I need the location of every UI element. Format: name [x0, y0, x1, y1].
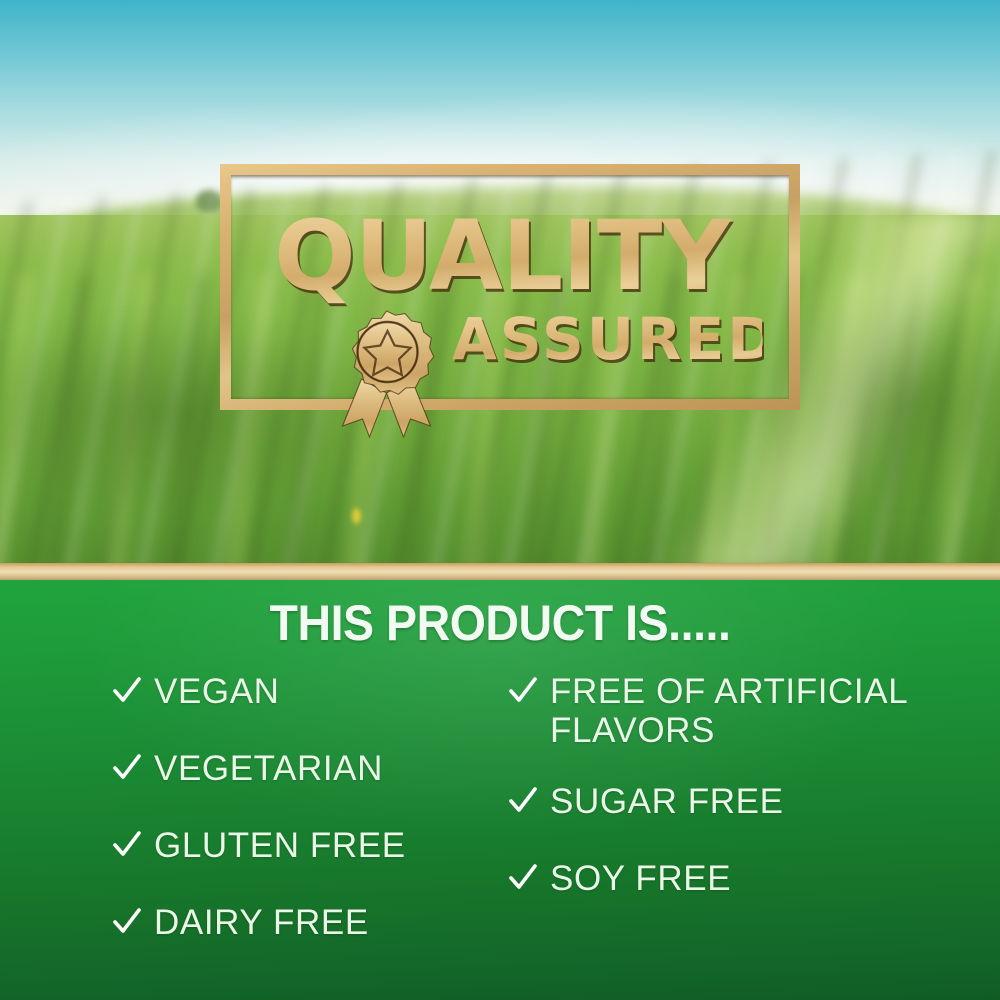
check-mark-icon: [112, 828, 142, 862]
claims-column-left: VEGAN VEGETARIAN GLUTEN FREE DAIRY FREE: [112, 672, 512, 942]
award-rosette-star-icon: [327, 305, 447, 440]
claim-label: VEGETARIAN: [154, 749, 383, 788]
claim-label: SOY FREE: [550, 859, 731, 898]
check-mark-icon: [112, 674, 142, 708]
check-mark-icon: [508, 674, 538, 708]
check-mark-icon: [508, 861, 538, 895]
check-mark-icon: [112, 751, 142, 785]
claim-item-sugar-free: SUGAR FREE: [508, 782, 938, 821]
claim-label: GLUTEN FREE: [154, 826, 406, 865]
claim-item-dairy-free: DAIRY FREE: [112, 903, 512, 942]
claim-item-soy-free: SOY FREE: [508, 859, 938, 898]
claim-item-vegetarian: VEGETARIAN: [112, 749, 512, 788]
claim-label: DAIRY FREE: [154, 903, 369, 942]
claims-column-right: FREE OF ARTIFICIAL FLAVORS SUGAR FREE SO…: [508, 672, 938, 898]
product-claims-banner: QUALITY ASSURED: [0, 0, 1000, 1000]
gold-divider-band: [0, 563, 1000, 580]
panel-heading: THIS PRODUCT IS.....: [35, 596, 965, 650]
badge-subline: ASSURED: [452, 308, 762, 370]
badge-headline: QUALITY: [252, 206, 752, 306]
claim-label: SUGAR FREE: [550, 782, 784, 821]
claim-item-free-of-artificial-flavors: FREE OF ARTIFICIAL FLAVORS: [508, 672, 938, 750]
claim-item-gluten-free: GLUTEN FREE: [112, 826, 512, 865]
check-mark-icon: [112, 905, 142, 939]
claim-item-vegan: VEGAN: [112, 672, 512, 711]
claim-label: VEGAN: [154, 672, 280, 711]
claim-label: FREE OF ARTIFICIAL FLAVORS: [550, 672, 908, 750]
quality-assured-badge: QUALITY ASSURED: [0, 0, 1000, 566]
check-mark-icon: [508, 784, 538, 818]
